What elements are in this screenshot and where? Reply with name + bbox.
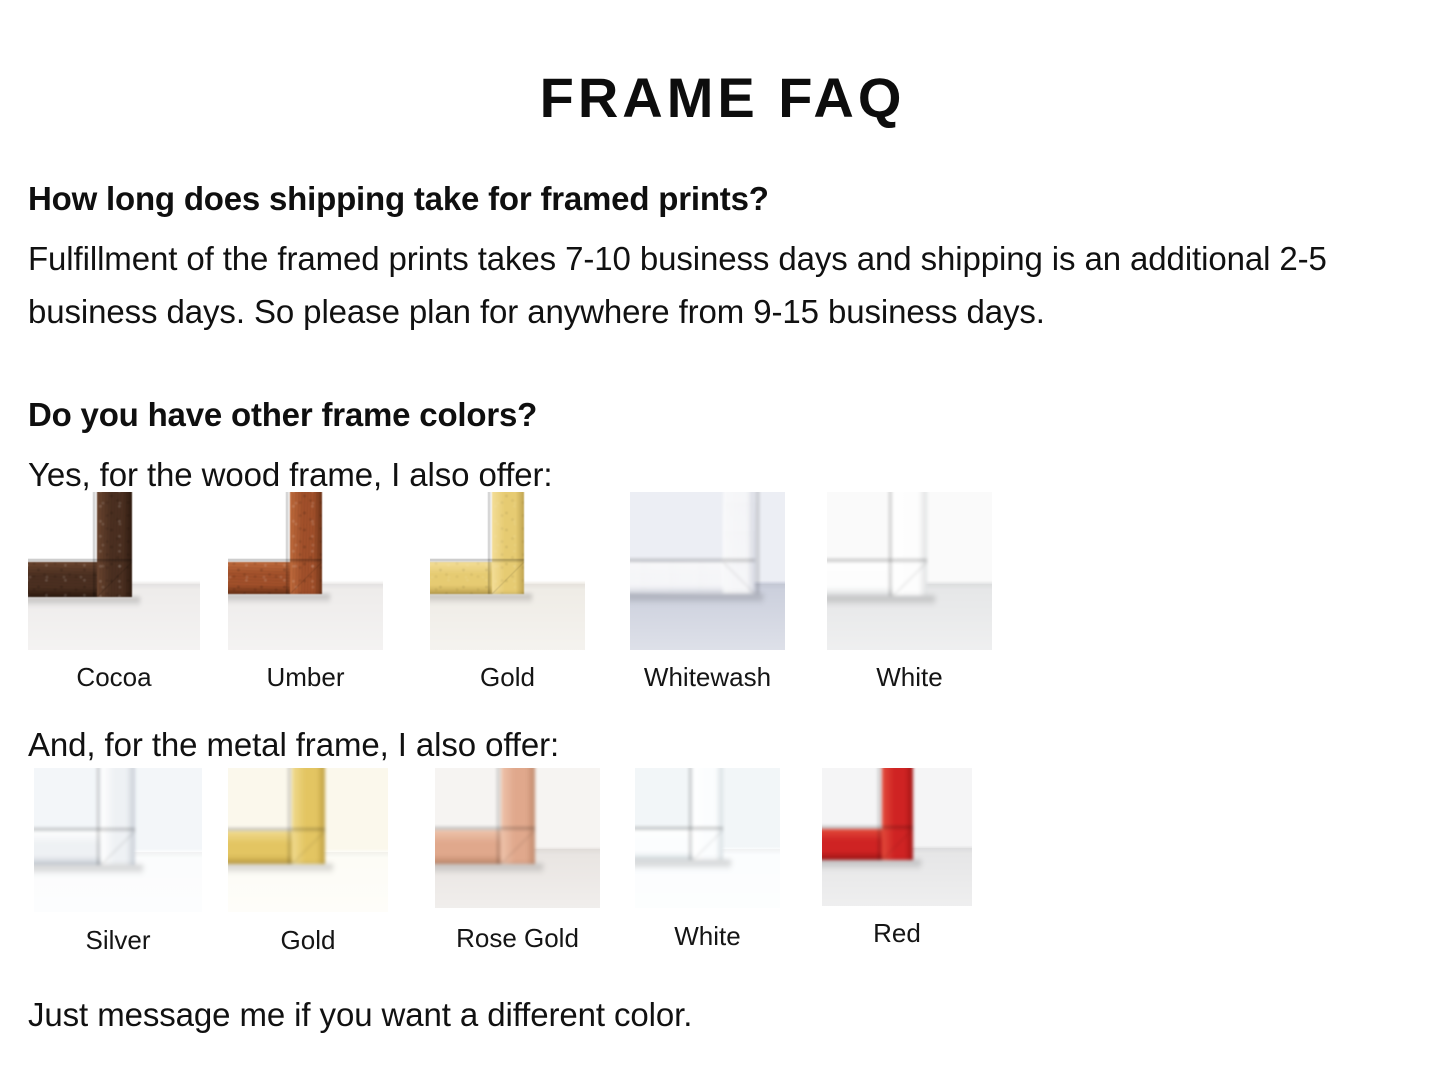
- frame-corner-photo: [827, 492, 992, 650]
- frame-inner-rebate-shadow: [228, 828, 325, 832]
- frame-inner-rebate-shadow: [635, 827, 723, 831]
- frame-miter-joint: [292, 831, 325, 864]
- frame-drop-shadow: [228, 594, 330, 604]
- faq-question-shipping: How long does shipping take for framed p…: [28, 180, 769, 219]
- metal-frame-swatch-row: SilverGoldRose GoldWhiteRed: [0, 768, 1445, 978]
- frame-swatch-rose-gold[interactable]: Rose Gold: [435, 768, 600, 908]
- frame-inner-rebate-shadow: [497, 768, 501, 864]
- frame-inner-rebate-shadow: [286, 492, 290, 594]
- frame-drop-shadow: [228, 864, 333, 874]
- frame-inner-rebate-shadow: [93, 492, 97, 597]
- frame-corner-photo: [228, 768, 388, 912]
- frame-swatch-label: Gold: [228, 925, 388, 956]
- frame-inner-rebate-shadow: [228, 559, 322, 563]
- frame-miter-joint: [501, 830, 535, 864]
- faq-answer-shipping: Fulfillment of the framed prints takes 7…: [28, 232, 1428, 339]
- frame-swatch-whitewash[interactable]: Whitewash: [630, 492, 785, 650]
- frame-corner-photo: [635, 768, 780, 908]
- frame-swatch-label: White: [635, 921, 780, 952]
- page-title: FRAME FAQ: [0, 70, 1445, 126]
- frame-miter-joint: [723, 562, 755, 594]
- closing-note: Just message me if you want a different …: [28, 988, 692, 1041]
- frame-swatch-silver[interactable]: Silver: [34, 768, 202, 912]
- frame-swatch-gold[interactable]: Gold: [430, 492, 585, 650]
- frame-swatch-label: Red: [822, 918, 972, 949]
- frame-inner-rebate-shadow: [630, 559, 755, 563]
- frame-inner-rebate-shadow: [97, 768, 101, 865]
- frame-swatch-gold[interactable]: Gold: [228, 768, 388, 912]
- frame-miter-joint: [492, 562, 524, 594]
- frame-corner-photo: [435, 768, 600, 908]
- frame-inner-rebate-shadow: [822, 826, 913, 830]
- frame-drop-shadow: [430, 594, 532, 604]
- frame-corner-photo: [630, 492, 785, 650]
- wood-frame-swatch-row: CocoaUmberGoldWhitewashWhite: [0, 492, 1445, 702]
- frame-swatch-white[interactable]: White: [827, 492, 992, 650]
- frame-corner-photo: [822, 768, 972, 906]
- frame-inner-rebate-shadow: [689, 768, 693, 860]
- frame-miter-joint: [101, 831, 135, 865]
- frame-miter-joint: [97, 562, 132, 597]
- frame-swatch-umber[interactable]: Umber: [228, 492, 383, 650]
- frame-miter-joint: [893, 562, 927, 596]
- frame-swatch-white[interactable]: White: [635, 768, 780, 908]
- frame-inner-rebate-shadow: [488, 492, 492, 594]
- frame-swatch-label: Umber: [228, 662, 383, 693]
- frame-drop-shadow: [34, 865, 143, 875]
- frame-drop-shadow: [827, 596, 935, 606]
- frame-inner-rebate-shadow: [28, 559, 132, 563]
- frame-corner-photo: [34, 768, 202, 912]
- frame-swatch-label: Cocoa: [28, 662, 200, 693]
- frame-swatch-label: Gold: [430, 662, 585, 693]
- frame-inner-rebate-shadow: [34, 828, 135, 832]
- frame-miter-joint: [882, 829, 913, 860]
- frame-drop-shadow: [630, 594, 763, 604]
- frame-swatch-label: Silver: [34, 925, 202, 956]
- frame-swatch-label: Rose Gold: [435, 923, 600, 954]
- frame-corner-photo: [430, 492, 585, 650]
- frame-swatch-cocoa[interactable]: Cocoa: [28, 492, 200, 650]
- frame-inner-rebate-shadow: [288, 768, 292, 864]
- frame-inner-rebate-shadow: [827, 559, 927, 563]
- frame-swatch-label: White: [827, 662, 992, 693]
- frame-miter-joint: [693, 830, 723, 860]
- frame-inner-rebate-shadow: [755, 492, 759, 594]
- frame-inner-rebate-shadow: [878, 768, 882, 860]
- frame-miter-joint: [290, 562, 322, 594]
- frame-swatch-label: Whitewash: [630, 662, 785, 693]
- frame-corner-photo: [228, 492, 383, 650]
- frame-drop-shadow: [822, 860, 921, 870]
- frame-inner-rebate-shadow: [430, 559, 524, 563]
- frame-corner-photo: [28, 492, 200, 650]
- frame-inner-rebate-shadow: [889, 492, 893, 596]
- frame-drop-shadow: [635, 860, 731, 870]
- metal-frames-intro: And, for the metal frame, I also offer:: [28, 718, 559, 771]
- frame-drop-shadow: [435, 864, 543, 874]
- frame-drop-shadow: [28, 597, 140, 607]
- faq-question-colors: Do you have other frame colors?: [28, 396, 537, 435]
- frame-inner-rebate-shadow: [435, 827, 535, 831]
- frame-swatch-red[interactable]: Red: [822, 768, 972, 906]
